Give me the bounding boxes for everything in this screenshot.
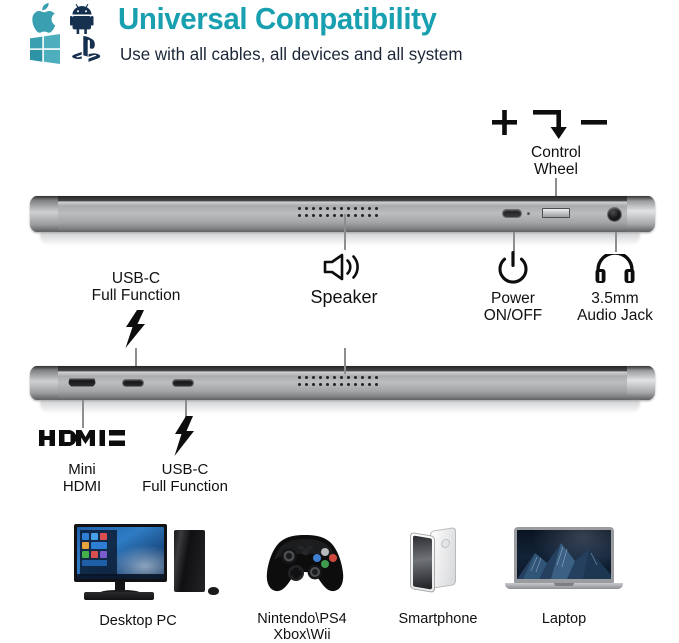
power-label: Power ON/OFF xyxy=(484,290,543,324)
power-button-port[interactable] xyxy=(502,209,522,218)
smartphone-art xyxy=(404,526,476,598)
desktop-pc-caption: Desktop PC xyxy=(99,614,176,630)
mini-hdmi-port[interactable] xyxy=(68,378,96,387)
android-icon xyxy=(70,4,98,39)
control-wheel-symbols xyxy=(490,108,610,142)
leader-line-speaker-bottom xyxy=(344,348,346,374)
usb-c-port-1[interactable] xyxy=(122,379,144,387)
audio-jack-label: 3.5mm Audio Jack xyxy=(577,290,653,324)
game-console-art xyxy=(258,528,353,598)
laptop-art xyxy=(505,527,623,593)
led-indicator xyxy=(527,212,530,215)
hdmi-logo xyxy=(39,428,125,457)
speaker-label: Speaker xyxy=(310,289,377,306)
bottom-bar-reflection xyxy=(40,400,640,414)
page-subtitle: Use with all cables, all devices and all… xyxy=(120,44,462,65)
laptop-caption: Laptop xyxy=(542,612,586,628)
usb-c-bottom-label: USB-C Full Function xyxy=(142,462,228,495)
mini-hdmi-label: Mini HDMI xyxy=(63,462,101,495)
compatibility-icons xyxy=(14,2,114,68)
speaker-grille-bottom xyxy=(298,376,378,386)
playstation-icon xyxy=(70,36,104,67)
leader-line-mini-hdmi xyxy=(82,400,84,428)
power-icon xyxy=(496,251,530,292)
headphone-icon xyxy=(594,254,636,289)
audio-jack-port[interactable] xyxy=(607,207,622,222)
speaker-grille-top xyxy=(298,207,378,217)
leader-line-audio-jack xyxy=(615,232,617,252)
speaker-icon xyxy=(322,252,366,287)
device-bottom-edge xyxy=(30,366,655,400)
control-wheel-port[interactable] xyxy=(542,208,570,218)
top-bar-reflection xyxy=(40,232,640,246)
leader-line-speaker xyxy=(344,214,346,250)
lightning-bolt-icon-bottom xyxy=(172,416,198,463)
smartphone-caption: Smartphone xyxy=(399,612,478,628)
leader-line-power xyxy=(513,232,515,252)
page-title: Universal Compatibility xyxy=(118,1,437,37)
apple-icon xyxy=(32,3,58,38)
usb-c-port-2[interactable] xyxy=(172,379,194,387)
desktop-pc-art xyxy=(62,520,222,600)
game-console-caption: Nintendo\PS4 Xbox\Wii xyxy=(257,612,346,643)
usb-c-top-label: USB-C Full Function xyxy=(92,270,181,304)
windows-icon xyxy=(30,34,60,69)
device-top-edge xyxy=(30,196,655,232)
control-wheel-label: Control Wheel xyxy=(531,144,581,178)
